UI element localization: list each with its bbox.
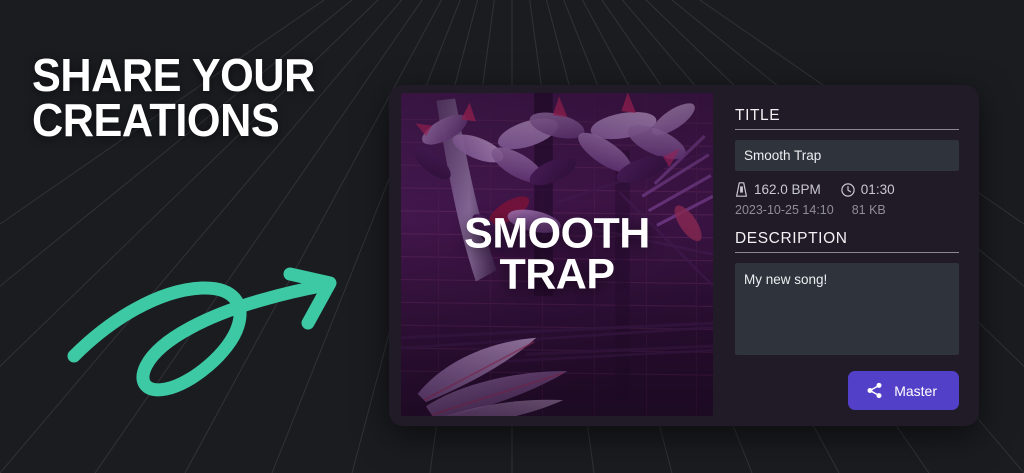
description-divider	[735, 252, 959, 253]
track-metadata-row: 162.0 BPM 01:30	[735, 182, 959, 197]
artwork-title-line-2: TRAP	[407, 255, 707, 296]
description-textarea[interactable]: My new song!	[735, 263, 959, 355]
bpm-meta: 162.0 BPM	[735, 182, 821, 197]
album-artwork[interactable]: SMOOTH TRAP	[401, 93, 713, 416]
artwork-container: SMOOTH TRAP	[389, 85, 713, 426]
artwork-title-overlay: SMOOTH TRAP	[401, 213, 713, 296]
bpm-value: 162.0 BPM	[754, 182, 821, 197]
duration-value: 01:30	[861, 182, 895, 197]
title-input[interactable]: Smooth Trap	[735, 140, 959, 171]
file-metadata-row: 2023-10-25 14:10 81 KB	[735, 203, 959, 217]
share-dialog-panel: SMOOTH TRAP TITLE Smooth Trap	[389, 85, 979, 426]
headline-line-2: CREATIONS	[32, 98, 389, 143]
created-date: 2023-10-25 14:10	[735, 203, 834, 217]
share-master-button[interactable]: Master	[848, 371, 959, 410]
promo-banner: SHARE YOUR CREATIONS	[0, 0, 1024, 473]
share-form: TITLE Smooth Trap 162.0 BPM	[713, 85, 979, 426]
title-section-label: TITLE	[735, 107, 959, 129]
description-section-label: DESCRIPTION	[735, 230, 959, 252]
page-title: SHARE YOUR CREATIONS	[32, 53, 389, 143]
share-nodes-icon	[866, 382, 883, 399]
share-button-label: Master	[894, 383, 937, 399]
metronome-icon	[735, 182, 748, 197]
duration-meta: 01:30	[841, 182, 895, 197]
form-actions: Master	[735, 361, 959, 410]
clock-icon	[841, 183, 855, 197]
description-section: DESCRIPTION My new song!	[735, 230, 959, 355]
file-size: 81 KB	[852, 203, 886, 217]
title-divider	[735, 129, 959, 130]
curved-arrow-icon	[62, 252, 362, 407]
